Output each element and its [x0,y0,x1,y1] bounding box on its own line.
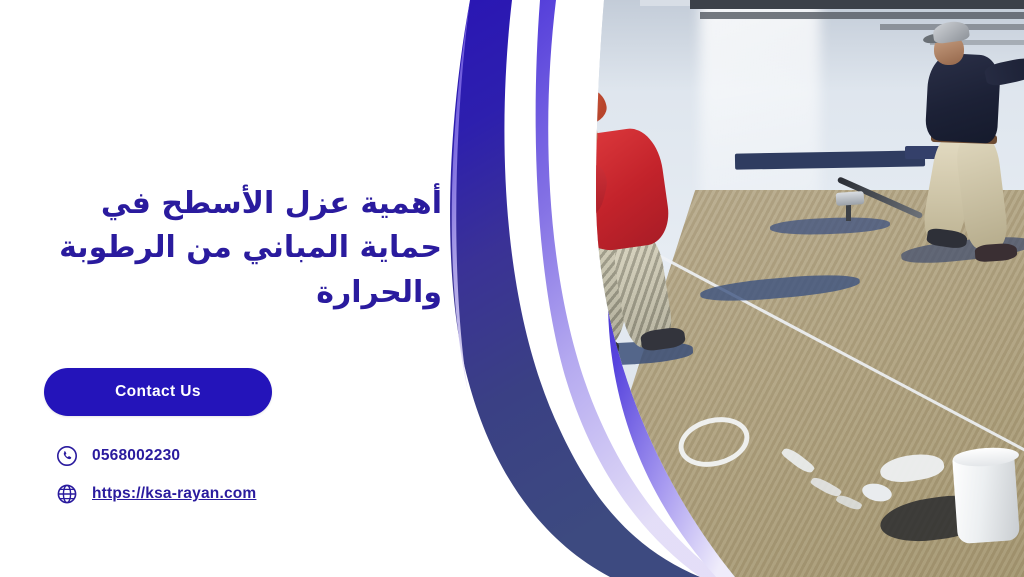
paint-roller-head [836,191,865,206]
wall-band [700,12,1024,19]
wall-band [690,0,1024,9]
contact-list: 0568002230 https://ksa-rayan.com [56,440,256,516]
worker-navy-top [905,22,1024,272]
contact-row-website[interactable]: https://ksa-rayan.com [56,478,256,510]
contact-us-button[interactable]: Contact Us [44,368,272,416]
worker-shoe [974,243,1017,263]
roof-navy-strip [735,150,925,169]
globe-icon [56,483,78,505]
website-link[interactable]: https://ksa-rayan.com [92,485,256,503]
text-panel: أهمية عزل الأسطح في حماية المباني من الر… [0,0,510,577]
contact-row-phone[interactable]: 0568002230 [56,440,256,472]
promo-banner: أهمية عزل الأسطح في حماية المباني من الر… [0,0,1024,577]
page-title: أهمية عزل الأسطح في حماية المباني من الر… [44,182,442,315]
phone-number[interactable]: 0568002230 [92,447,180,465]
worker-cap [932,20,970,45]
phone-icon [56,445,78,467]
paint-roller-stem [846,203,851,221]
